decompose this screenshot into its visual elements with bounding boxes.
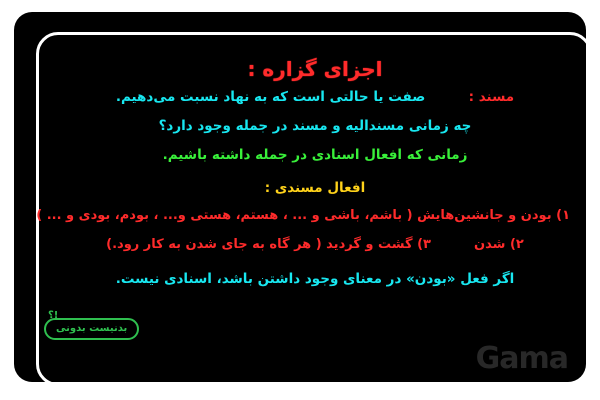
question-text: چه زمانی مسندالیه و مسند در جمله وجود دا… [60,119,570,134]
list-item-label: ۳) گشت و گردید ( هر گاه به جای شدن به کا… [106,237,431,252]
note-stamp: !؟ بدنیست بدونی [44,318,139,340]
watermark: Gama [476,341,568,376]
slide-panel: اجزای گزاره : مسند : صفت یا حالتی است که… [14,12,586,382]
page-title: اجزای گزاره : [60,58,570,80]
section-heading: افعال مسندی : [60,181,570,196]
final-note: اگر فعل «بودن» در معنای وجود داشتن باشد،… [60,272,570,287]
definition-row: مسند : صفت یا حالتی است که به نهاد نسبت … [60,90,570,105]
slide-canvas: اجزای گزاره : مسند : صفت یا حالتی است که… [0,0,600,400]
stamp-label: بدنیست بدونی [56,323,127,334]
answer-text: زمانی که افعال اسنادی در جمله داشته باشی… [60,148,570,163]
list-item-label: ۲) شدن [474,237,524,252]
definition-label: مسند : [469,89,515,105]
definition-text: صفت یا حالتی است که به نهاد نسبت می‌دهیم… [116,89,425,105]
list-item: ۲) شدن ۳) گشت و گردید ( هر گاه به جای شد… [60,238,570,252]
stamp-mark: !؟ [48,310,58,321]
list-item: ۱) بودن و جانشین‌هایش ( باشم، باشی و ...… [60,209,570,223]
